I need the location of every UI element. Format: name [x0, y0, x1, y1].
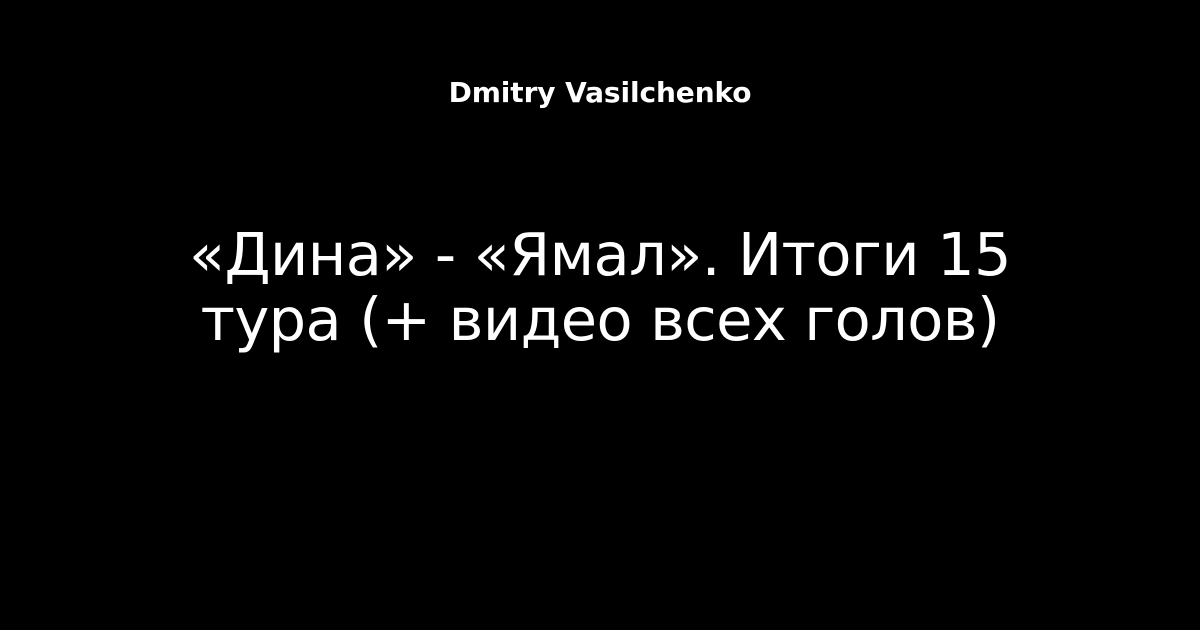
article-title: «Дина» - «Ямал». Итоги 15 тура (+ видео …: [150, 222, 1050, 352]
article-title-block: «Дина» - «Ямал». Итоги 15 тура (+ видео …: [60, 222, 1140, 352]
author-name: Dmitry Vasilchenko: [449, 78, 752, 109]
author-block: Dmitry Vasilchenko: [0, 0, 1200, 190]
empty-bottom-area: [0, 400, 1200, 630]
share-card: Dmitry Vasilchenko «Дина» - «Ямал». Итог…: [0, 0, 1200, 630]
